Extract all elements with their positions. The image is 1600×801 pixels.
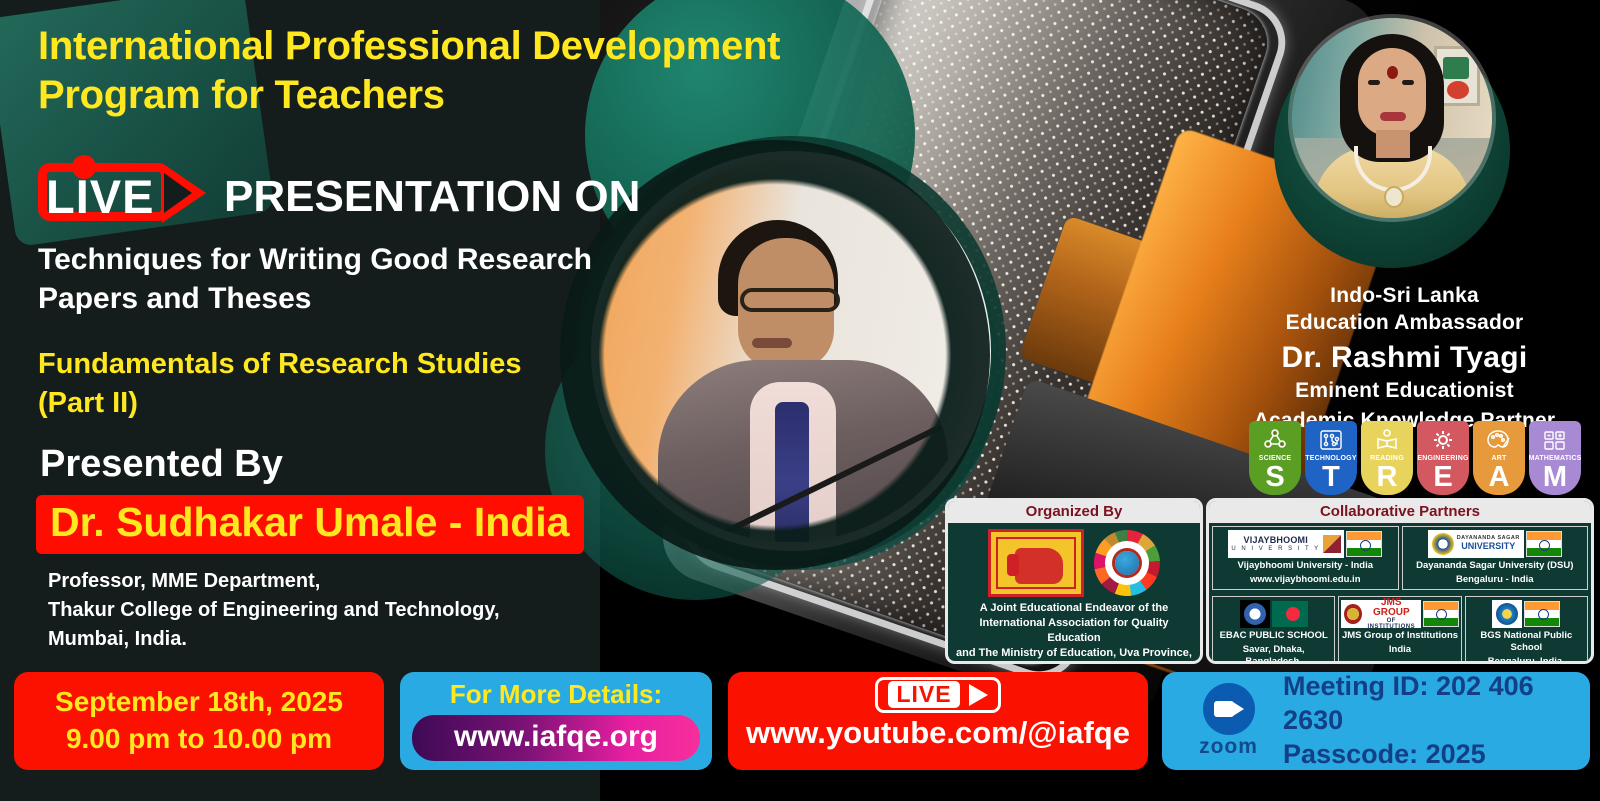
dsu-crest-icon <box>1432 533 1454 555</box>
youtube-url[interactable]: www.youtube.com/@iafqe <box>728 715 1148 751</box>
partner-caption-line-2: India <box>1341 644 1458 656</box>
ambassador-info: Indo-Sri Lanka Education Ambassador Dr. … <box>1232 283 1577 435</box>
partner-logo-sub: OF INSTITUTIONS <box>1365 618 1418 630</box>
molecule-icon <box>1262 426 1288 454</box>
subject-line-1: Techniques for Writing Good Research <box>38 240 658 279</box>
bangladesh-flag-icon <box>1272 601 1308 627</box>
affiliation-line-1: Professor, MME Department, <box>48 567 648 596</box>
more-details-label: For More Details: <box>400 679 712 710</box>
partner-caption-line-2: Savar, Dhaka, Bangladesh. <box>1215 644 1332 664</box>
partner-caption-line-2: Bengaluru - India <box>1405 574 1586 586</box>
stream-badge-row: SCIENCE S TECHNOLOGY T R <box>1249 421 1581 495</box>
ebac-logo-icon <box>1240 600 1270 628</box>
jms-group-logo-icon: JMS GROUP OF INSTITUTIONS <box>1341 600 1420 628</box>
stream-badge-letter: R <box>1377 463 1398 492</box>
partner-caption-line-2: www.vijaybhoomi.edu.in <box>1215 574 1396 586</box>
zoom-chip[interactable]: zoom Meeting ID: 202 406 2630 Passcode: … <box>1162 672 1590 770</box>
partner-ebac-public-school: EBAC PUBLIC SCHOOL Savar, Dhaka, Banglad… <box>1212 596 1335 664</box>
title-line-1: International Professional Development <box>38 22 898 71</box>
session-topic: Fundamentals of Research Studies (Part I… <box>38 345 658 422</box>
more-details-chip[interactable]: For More Details: www.iafqe.org <box>400 672 712 770</box>
partner-dayananda-sagar: DAYANANDA SAGAR UNIVERSITY Dayananda Sag… <box>1402 526 1589 590</box>
stream-badge-mathematics: MATHEMATICS M <box>1529 421 1581 495</box>
india-flag-icon <box>1423 601 1459 627</box>
bgs-crest-icon <box>1496 603 1518 625</box>
zoom-meeting-id: Meeting ID: 202 406 2630 <box>1283 670 1590 738</box>
india-flag-icon <box>1524 601 1560 627</box>
zoom-camera-icon <box>1203 683 1255 735</box>
website-link[interactable]: www.iafqe.org <box>412 715 700 761</box>
play-icon <box>969 684 988 706</box>
ambassador-avatar <box>1292 18 1492 218</box>
stream-badge-science: SCIENCE S <box>1249 421 1301 495</box>
calculator-icon <box>1542 426 1568 454</box>
partner-logo-sub: U N I V E R S I T Y <box>1231 546 1320 552</box>
vijaybhoomi-mark-icon <box>1323 535 1341 553</box>
partner-caption-line-1: Dayananda Sagar University (DSU) <box>1405 560 1586 572</box>
page-title: International Professional Development P… <box>38 22 898 120</box>
stream-badge-engineering: ENGINEERING E <box>1417 421 1469 495</box>
stream-badge-art: ART A <box>1473 421 1525 495</box>
partner-vijaybhoomi: VIJAYBHOOMI U N I V E R S I T Y Vijaybho… <box>1212 526 1399 590</box>
sdg-wheel-icon <box>1094 530 1160 596</box>
india-flag-icon <box>1346 531 1382 557</box>
india-flag-icon <box>1526 531 1562 557</box>
ambassador-sub-line-1: Eminent Educationist <box>1232 378 1577 405</box>
youtube-chip[interactable]: LIVE www.youtube.com/@iafqe <box>728 672 1148 770</box>
partner-logo-text: VIJAYBHOOMI <box>1244 535 1308 545</box>
palette-icon <box>1486 426 1512 454</box>
event-date: September 18th, 2025 <box>55 684 343 721</box>
jms-crest-icon <box>1344 604 1362 624</box>
topic-line-2: (Part II) <box>38 384 658 423</box>
partner-bgs-national-public-school: BGS National Public School Bengaluru, In… <box>1465 596 1588 664</box>
zoom-credentials: Meeting ID: 202 406 2630 Passcode: 2025 <box>1283 670 1590 771</box>
partner-jms-group: JMS GROUP OF INSTITUTIONS JMS Group of I… <box>1338 596 1461 664</box>
organized-caption-line-1: A Joint Educational Endeavor of the <box>952 601 1196 616</box>
ambassador-photo-wrapper <box>1292 18 1492 218</box>
ambassador-role-line-1: Indo-Sri Lanka <box>1232 283 1577 310</box>
stream-badge-letter: T <box>1322 463 1340 492</box>
youtube-live-badge: LIVE <box>875 677 1000 713</box>
stream-badge-reading: READING R <box>1361 421 1413 495</box>
event-time: 9.00 pm to 10.00 pm <box>66 721 332 758</box>
speaker-name-badge: Dr. Sudhakar Umale - India <box>36 495 584 554</box>
presented-by-label: Presented By <box>40 443 283 486</box>
stream-badge-letter: S <box>1265 463 1284 492</box>
gear-icon <box>1430 426 1456 454</box>
zoom-brand-label: zoom <box>1188 735 1269 759</box>
subject-line-2: Papers and Theses <box>38 279 658 318</box>
organized-caption-line-2: International Association for Quality Ed… <box>952 616 1196 646</box>
speaker-affiliation: Professor, MME Department, Thakur Colleg… <box>48 567 648 654</box>
partner-caption-line-1: EBAC PUBLIC SCHOOL <box>1215 630 1332 642</box>
affiliation-line-2: Thakur College of Engineering and Techno… <box>48 596 648 625</box>
partners-row-top: VIJAYBHOOMI U N I V E R S I T Y Vijaybho… <box>1209 523 1591 593</box>
partners-heading: Collaborative Partners <box>1209 501 1591 523</box>
affiliation-line-3: Mumbai, India. <box>48 625 648 654</box>
live-presentation-header: LIVE PRESENTATION ON <box>38 168 640 226</box>
ebac-crest-icon <box>1244 603 1266 625</box>
sri-lanka-lion-emblem-icon <box>988 529 1084 597</box>
partner-caption-line-2: Bengaluru, India. <box>1468 656 1585 665</box>
ambassador-role-line-2: Education Ambassador <box>1232 310 1577 337</box>
partner-caption-line-1: Vijaybhoomi University - India <box>1215 560 1396 572</box>
organized-by-caption: A Joint Educational Endeavor of the Inte… <box>948 599 1200 664</box>
organized-by-panel: Organized By A Joint Educational Endeavo… <box>945 498 1203 664</box>
organizer-logos <box>948 523 1200 599</box>
bgs-logo-icon <box>1492 600 1522 628</box>
presentation-on-label: PRESENTATION ON <box>224 172 640 222</box>
dayananda-sagar-logo-icon: DAYANANDA SAGAR UNIVERSITY <box>1428 530 1524 558</box>
partners-row-bottom: EBAC PUBLIC SCHOOL Savar, Dhaka, Banglad… <box>1209 593 1591 664</box>
partner-logo-text: JMS GROUP <box>1373 597 1410 618</box>
title-line-2: Program for Teachers <box>38 71 898 120</box>
book-reader-icon <box>1374 426 1400 454</box>
zoom-passcode: Passcode: 2025 <box>1283 738 1590 772</box>
live-camera-icon: LIVE <box>38 157 230 229</box>
live-label: LIVE <box>46 173 154 220</box>
date-time-chip: September 18th, 2025 9.00 pm to 10.00 pm <box>14 672 384 770</box>
footer-bar: September 18th, 2025 9.00 pm to 10.00 pm… <box>0 672 1600 782</box>
topic-line-1: Fundamentals of Research Studies <box>38 345 658 384</box>
zoom-logo: zoom <box>1188 683 1269 759</box>
stream-badge-technology: TECHNOLOGY T <box>1305 421 1357 495</box>
webinar-poster: International Professional Development P… <box>0 0 1600 801</box>
partner-logo-text: UNIVERSITY <box>1461 541 1515 551</box>
stream-badge-letter: A <box>1489 463 1510 492</box>
collaborative-partners-panel: Collaborative Partners VIJAYBHOOMI U N I… <box>1206 498 1594 664</box>
stream-badge-letter: E <box>1433 463 1452 492</box>
organized-by-heading: Organized By <box>948 501 1200 523</box>
stream-badge-letter: M <box>1543 463 1567 492</box>
ambassador-name: Dr. Rashmi Tyagi <box>1232 341 1577 375</box>
youtube-live-label: LIVE <box>888 681 959 708</box>
vijaybhoomi-logo-icon: VIJAYBHOOMI U N I V E R S I T Y <box>1228 530 1344 558</box>
session-subject: Techniques for Writing Good Research Pap… <box>38 240 658 318</box>
circuit-icon <box>1318 426 1344 454</box>
partner-caption-line-1: BGS National Public School <box>1468 630 1585 654</box>
organized-caption-line-3: and The Ministry of Education, Uva Provi… <box>952 646 1196 664</box>
partner-caption-line-1: JMS Group of Institutions <box>1341 630 1458 642</box>
